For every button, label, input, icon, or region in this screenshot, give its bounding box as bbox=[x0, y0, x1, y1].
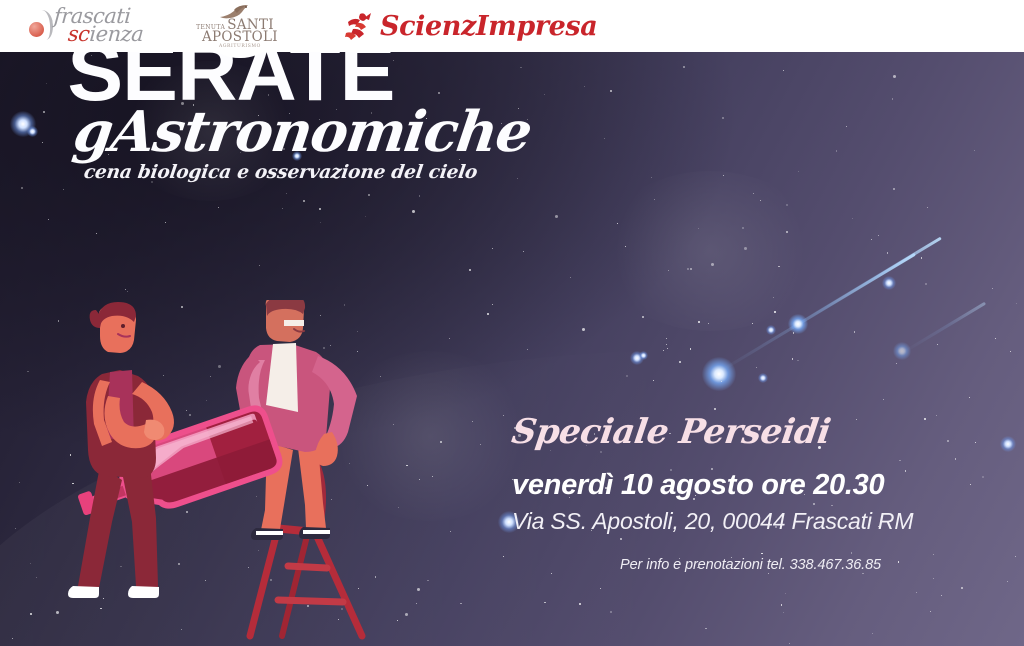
frascati-scienza-wordmark: frascati scienza bbox=[54, 8, 143, 44]
star bbox=[792, 358, 793, 359]
star bbox=[773, 297, 774, 298]
star bbox=[683, 66, 685, 68]
star bbox=[846, 126, 847, 127]
star bbox=[783, 612, 784, 613]
star bbox=[412, 210, 415, 213]
event-contact: Per info e prenotazioni tel. 338.467.36.… bbox=[620, 557, 972, 573]
star bbox=[721, 381, 722, 382]
event-address: Via SS. Apostoli, 20, 00044 Frascati RM bbox=[512, 507, 972, 535]
star bbox=[653, 380, 654, 381]
star bbox=[744, 247, 747, 250]
star bbox=[303, 200, 305, 202]
star bbox=[690, 268, 692, 270]
star bbox=[582, 328, 585, 331]
logo-sub-agriturismo: AGRITURISMO bbox=[219, 44, 261, 49]
poster-canvas: SERATE gAstronomiche cena biologica e os… bbox=[0, 0, 1024, 646]
star bbox=[30, 563, 31, 564]
glow-star bbox=[758, 373, 768, 383]
wine-bottle-telescope-illustration bbox=[60, 300, 460, 646]
meteor-head bbox=[893, 342, 911, 360]
star bbox=[12, 638, 13, 639]
running-figure-icon bbox=[344, 11, 372, 41]
swoosh-icon bbox=[33, 9, 54, 41]
star bbox=[282, 208, 283, 209]
star bbox=[368, 194, 370, 196]
meteor-head bbox=[702, 357, 736, 391]
star bbox=[36, 577, 37, 578]
star bbox=[286, 193, 287, 194]
star bbox=[711, 263, 714, 266]
star bbox=[654, 199, 655, 200]
logo-rest-ienza: ienza bbox=[89, 22, 144, 46]
star bbox=[768, 573, 769, 574]
star bbox=[642, 316, 644, 318]
logo-accent-sc: sc bbox=[67, 22, 90, 46]
star bbox=[742, 227, 744, 229]
star bbox=[893, 75, 896, 78]
star bbox=[523, 251, 524, 252]
star bbox=[419, 195, 420, 196]
poster-script-title: gAstronomiche bbox=[70, 104, 534, 160]
glow-star bbox=[639, 351, 648, 360]
star bbox=[798, 171, 799, 172]
event-info-block: Speciale Perseidi venerdì 10 agosto ore … bbox=[512, 412, 972, 573]
star bbox=[679, 361, 681, 363]
star bbox=[319, 208, 321, 210]
nebula-blob bbox=[600, 171, 820, 331]
star bbox=[797, 360, 798, 361]
star bbox=[974, 150, 975, 151]
star bbox=[893, 188, 895, 190]
star bbox=[480, 444, 481, 445]
star bbox=[58, 320, 59, 321]
poster-subtitle: cena biologica e osservazione del cielo bbox=[83, 162, 532, 183]
scienzimpresa-wordmark: ScienzImpresa bbox=[380, 11, 597, 42]
star bbox=[781, 604, 782, 605]
star bbox=[492, 304, 493, 305]
star bbox=[878, 235, 879, 236]
star bbox=[579, 603, 581, 605]
logo-scienzimpresa[interactable]: ScienzImpresa bbox=[344, 0, 597, 52]
star bbox=[836, 150, 837, 151]
logo-tenuta-santi-apostoli[interactable]: TENUTA SANTI APOSTOLI AGRITURISMO bbox=[192, 0, 278, 52]
star bbox=[56, 611, 59, 614]
poster-title-block: SERATE gAstronomiche cena biologica e os… bbox=[72, 36, 530, 183]
event-date: venerdì 10 agosto ore 20.30 bbox=[512, 468, 972, 502]
logo-line-scienza: scienza bbox=[67, 24, 144, 44]
logo-line-apostoli: APOSTOLI bbox=[202, 31, 278, 44]
star bbox=[668, 270, 669, 271]
glow-star bbox=[766, 325, 776, 335]
star bbox=[690, 348, 691, 349]
star bbox=[925, 283, 927, 285]
star bbox=[1007, 581, 1008, 582]
star bbox=[756, 367, 757, 368]
star bbox=[723, 175, 724, 176]
star bbox=[793, 332, 794, 333]
glow-star bbox=[1000, 436, 1016, 452]
glow-star bbox=[882, 276, 896, 290]
star bbox=[778, 266, 779, 267]
star bbox=[887, 252, 888, 253]
star bbox=[892, 98, 893, 99]
glow-star bbox=[27, 126, 38, 137]
star bbox=[43, 111, 45, 113]
logo-frascati-scienza[interactable]: frascati scienza bbox=[28, 0, 143, 52]
star bbox=[937, 344, 938, 345]
meteor-head bbox=[788, 314, 808, 334]
event-highlight: Speciale Perseidi bbox=[509, 412, 975, 452]
star bbox=[21, 187, 23, 189]
star bbox=[666, 338, 667, 339]
